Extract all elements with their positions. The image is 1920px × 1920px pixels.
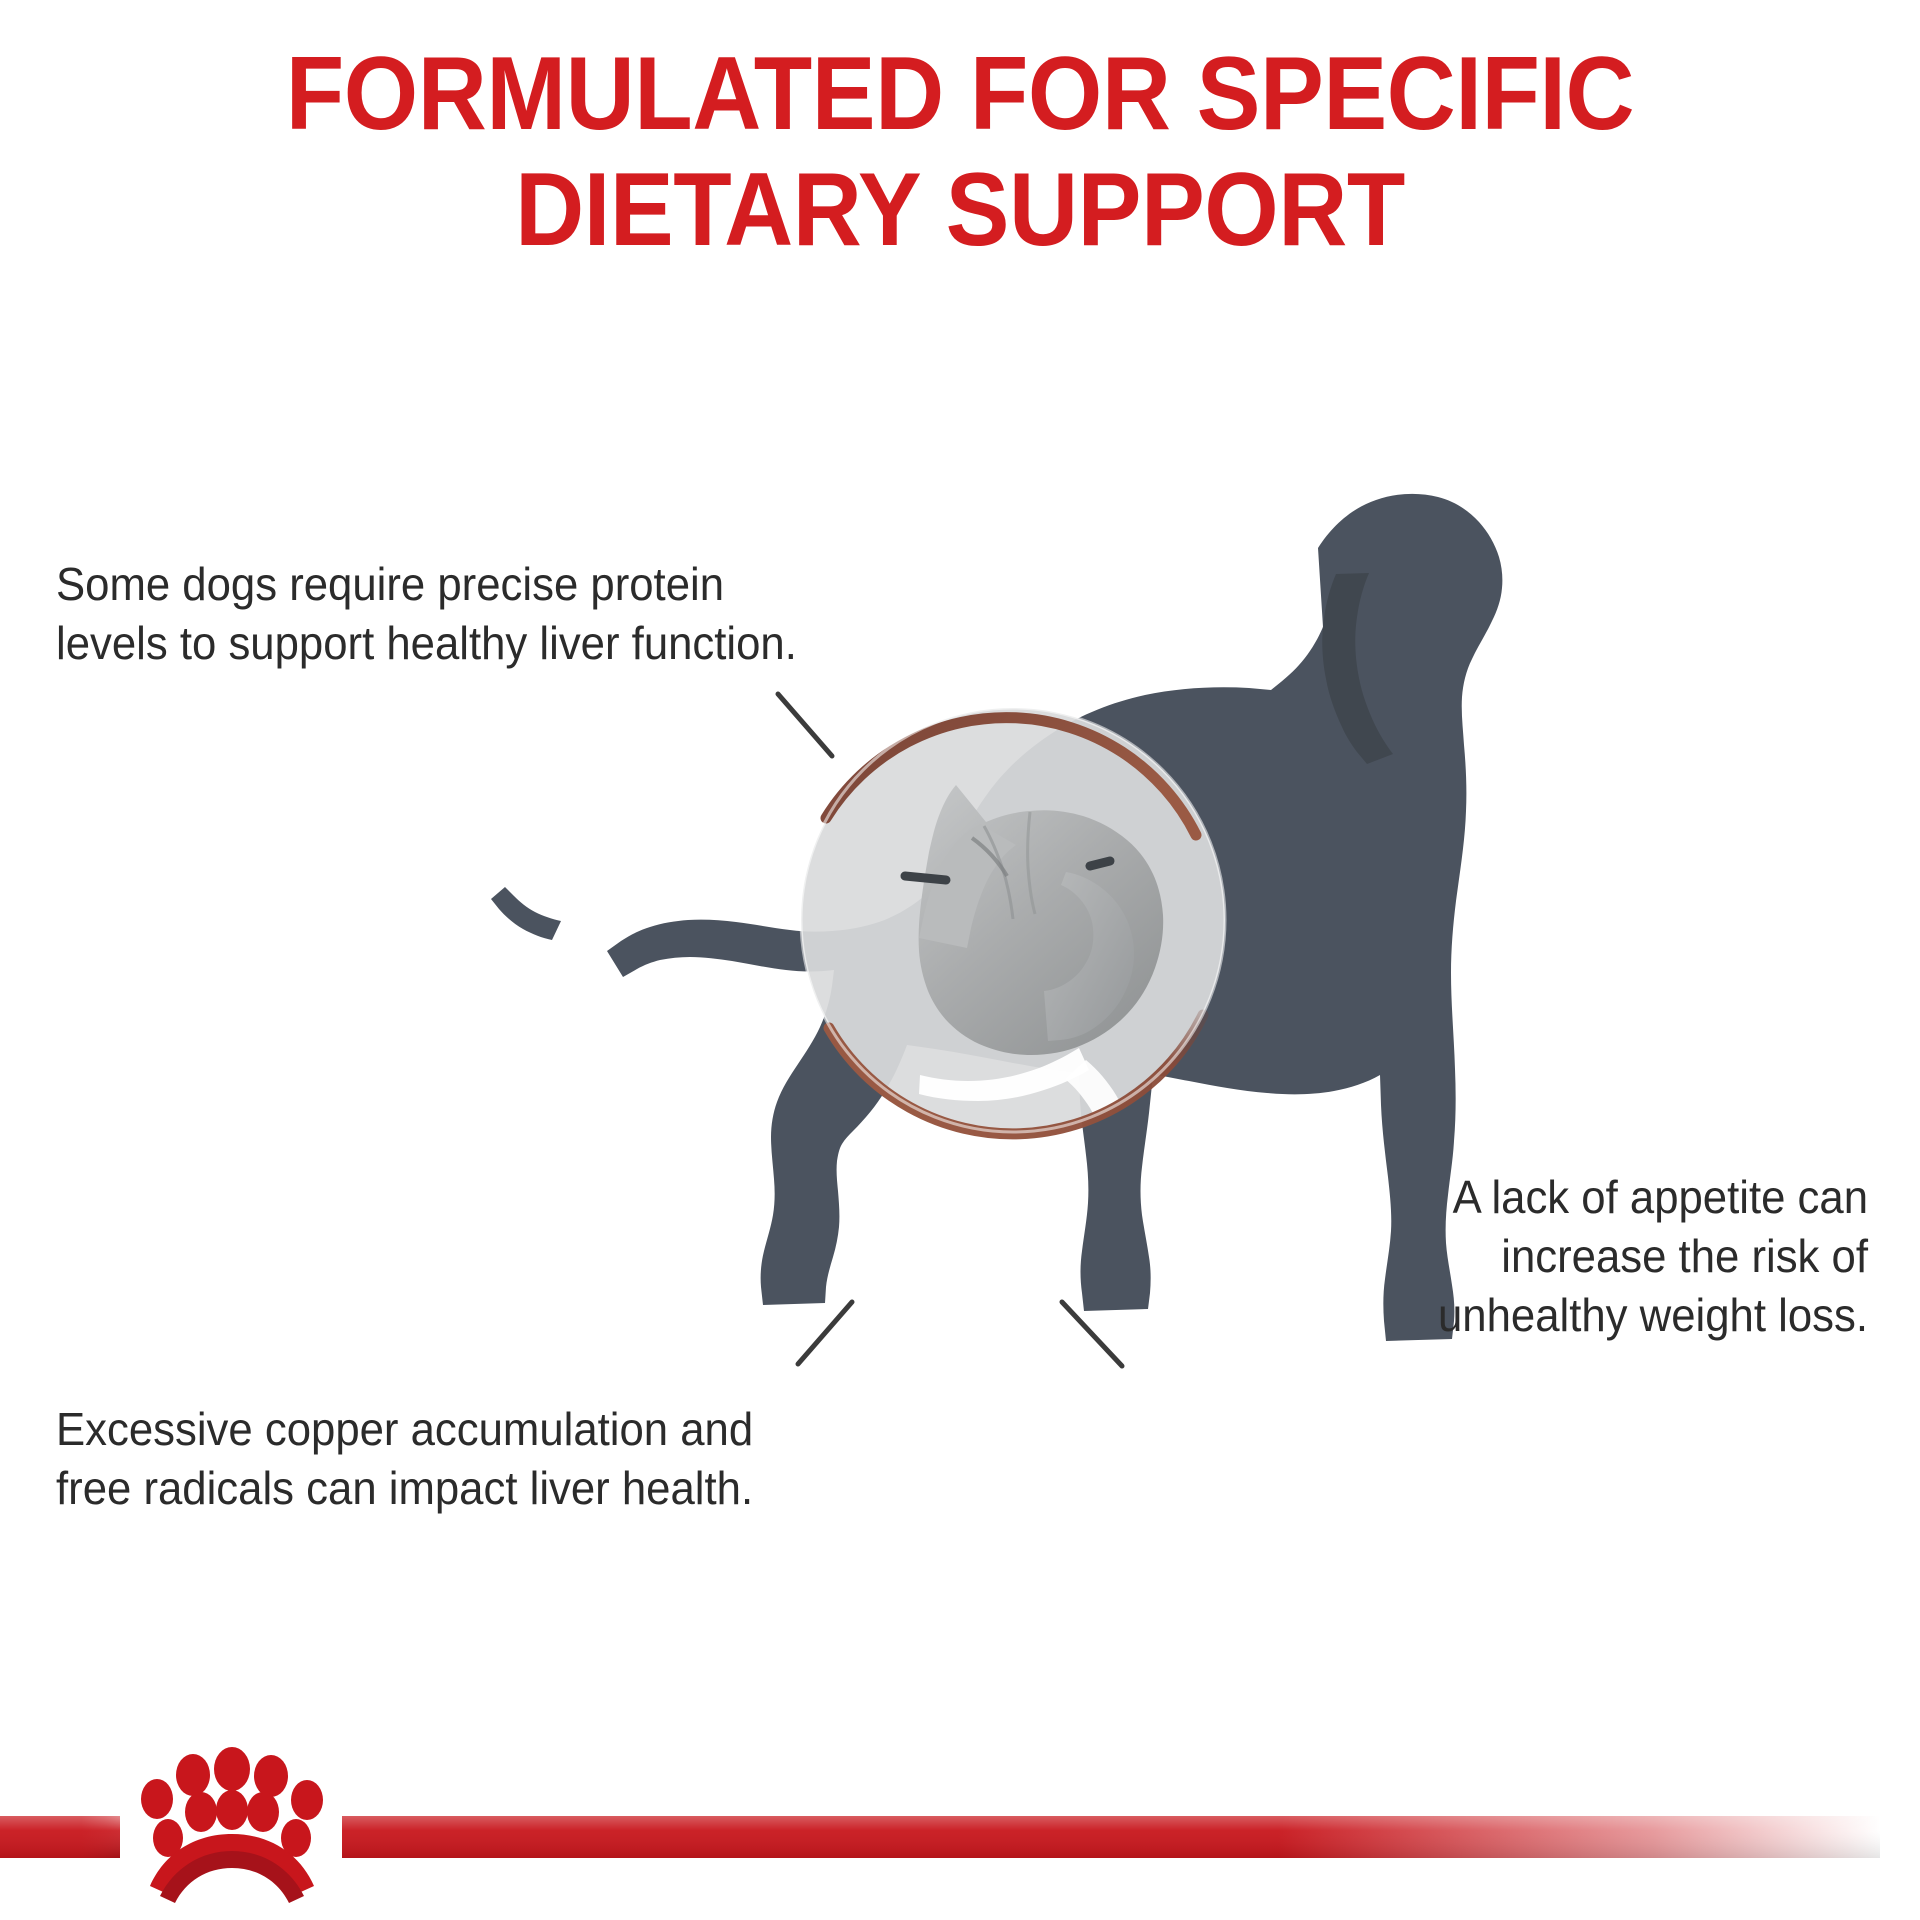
- illustration-layer: [0, 0, 1920, 1920]
- leader-line-bottom-left: [52, 1302, 852, 1364]
- magnifier-highlight-circle-icon: [801, 708, 1225, 1153]
- leader-line-top-left: [52, 694, 832, 756]
- infographic-canvas: FORMULATED FOR SPECIFIC DIETARY SUPPORT: [0, 0, 1920, 1920]
- callout-bottom-right-text: A lack of appetite can increase the risk…: [1336, 1168, 1868, 1345]
- page-title: FORMULATED FOR SPECIFIC DIETARY SUPPORT: [77, 36, 1843, 269]
- royal-canin-crown-icon: [141, 1747, 323, 1903]
- callout-top-left-text: Some dogs require precise protein levels…: [56, 555, 911, 673]
- callout-bottom-left-text: Excessive copper accumulation and free r…: [56, 1400, 911, 1518]
- liver-organ-icon: [905, 785, 1163, 1055]
- footer-brand-band: [0, 1747, 1880, 1903]
